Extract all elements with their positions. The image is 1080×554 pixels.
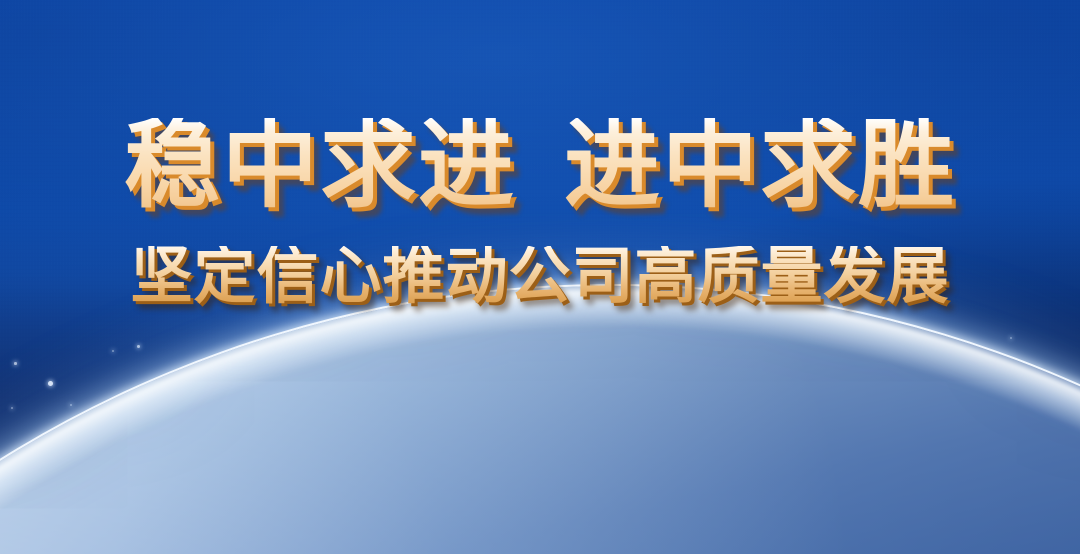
promotional-banner: 稳中求进进中求胜 坚定信心推动公司高质量发展 xyxy=(0,0,1080,554)
headline-phrase-1: 稳中求进 xyxy=(124,112,516,219)
banner-subheadline: 坚定信心推动公司高质量发展 xyxy=(0,246,1080,308)
earth-limb-rim xyxy=(0,286,1080,554)
banner-headline: 稳中求进进中求胜 xyxy=(0,118,1080,214)
headline-phrase-2: 进中求胜 xyxy=(564,112,956,219)
banner-text-block: 稳中求进进中求胜 坚定信心推动公司高质量发展 xyxy=(0,118,1080,308)
